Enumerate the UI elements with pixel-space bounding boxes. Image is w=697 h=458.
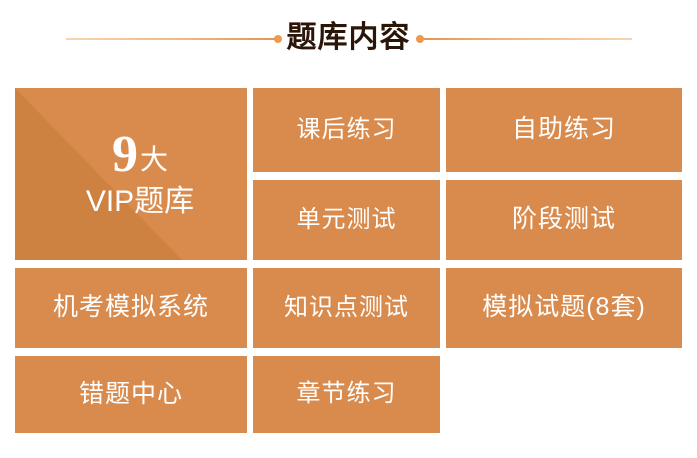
card-unit-test[interactable]: 单元测试 xyxy=(253,180,440,260)
featured-unit: 大 xyxy=(140,144,168,175)
card-computer-exam-simulation-system[interactable]: 机考模拟系统 xyxy=(15,268,247,348)
featured-subtitle: VIP题库 xyxy=(86,185,194,220)
featured-count-line: 9大 xyxy=(86,129,194,181)
right-rule-line xyxy=(420,38,632,40)
grid-empty-slot xyxy=(446,356,682,433)
card-knowledge-point-test[interactable]: 知识点测试 xyxy=(253,268,440,348)
card-label: 错题中心 xyxy=(79,381,183,409)
card-self-help-practice[interactable]: 自助练习 xyxy=(446,88,682,172)
card-label: 课后练习 xyxy=(297,117,397,143)
left-decorative-rule xyxy=(66,38,278,40)
question-bank-panel: 题库内容 9大 VIP题库 课后练习 自助练习 单元测试 xyxy=(0,0,697,458)
card-stage-test[interactable]: 阶段测试 xyxy=(446,180,682,260)
card-label: 章节练习 xyxy=(297,381,397,407)
right-rule-dot-icon xyxy=(416,35,424,43)
card-chapter-practice[interactable]: 章节练习 xyxy=(253,356,440,433)
card-label: 模拟试题(8套) xyxy=(482,294,646,322)
right-decorative-rule xyxy=(420,38,632,40)
section-header: 题库内容 xyxy=(0,0,697,78)
card-simulation-papers[interactable]: 模拟试题(8套) xyxy=(446,268,682,348)
card-label: 阶段测试 xyxy=(512,206,616,234)
card-label: 知识点测试 xyxy=(284,295,409,321)
card-after-class-practice[interactable]: 课后练习 xyxy=(253,88,440,172)
card-label: 自助练习 xyxy=(512,116,616,144)
featured-card-content: 9大 VIP题库 xyxy=(68,129,194,220)
page-title: 题库内容 xyxy=(287,23,411,56)
card-label: 机考模拟系统 xyxy=(53,294,209,322)
card-label: 单元测试 xyxy=(297,207,397,233)
card-vip-question-bank[interactable]: 9大 VIP题库 xyxy=(15,88,247,260)
left-rule-line xyxy=(66,38,278,40)
left-rule-dot-icon xyxy=(274,35,282,43)
card-wrong-question-center[interactable]: 错题中心 xyxy=(15,356,247,433)
question-bank-grid: 9大 VIP题库 课后练习 自助练习 单元测试 阶段测试 机考模拟系统 知识点测… xyxy=(15,88,683,433)
featured-count: 9 xyxy=(112,126,138,183)
